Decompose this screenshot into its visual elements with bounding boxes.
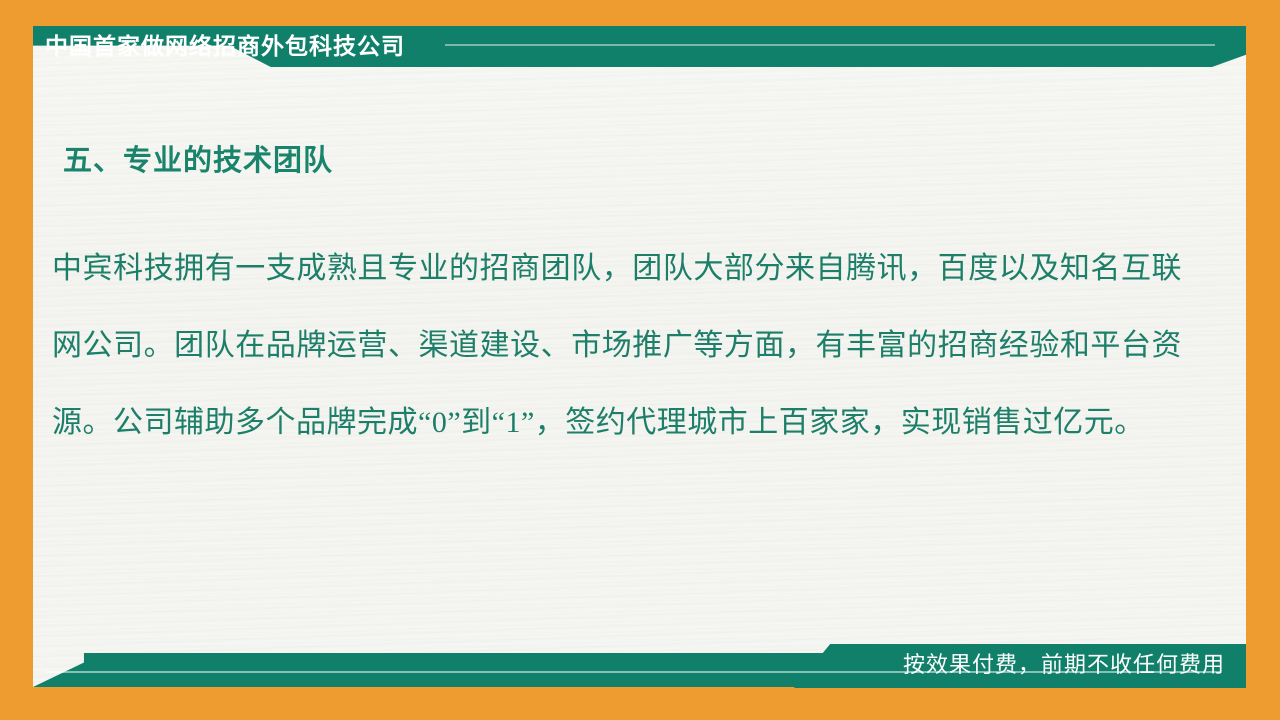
section-heading: 五、专业的技术团队 xyxy=(63,137,333,179)
header-divider-line xyxy=(445,44,1215,46)
body-paragraph: 中宾科技拥有一支成熟且专业的招商团队，团队大部分来自腾讯，百度以及知名互联网公司… xyxy=(52,230,1182,461)
presentation-slide: 中国首家做网络招商外包科技公司 五、专业的技术团队 中宾科技拥有一支成熟且专业的… xyxy=(0,0,1280,720)
header-title: 中国首家做网络招商外包科技公司 xyxy=(45,31,405,61)
footer-tagline: 按效果付费，前期不收任何费用 xyxy=(903,648,1225,682)
